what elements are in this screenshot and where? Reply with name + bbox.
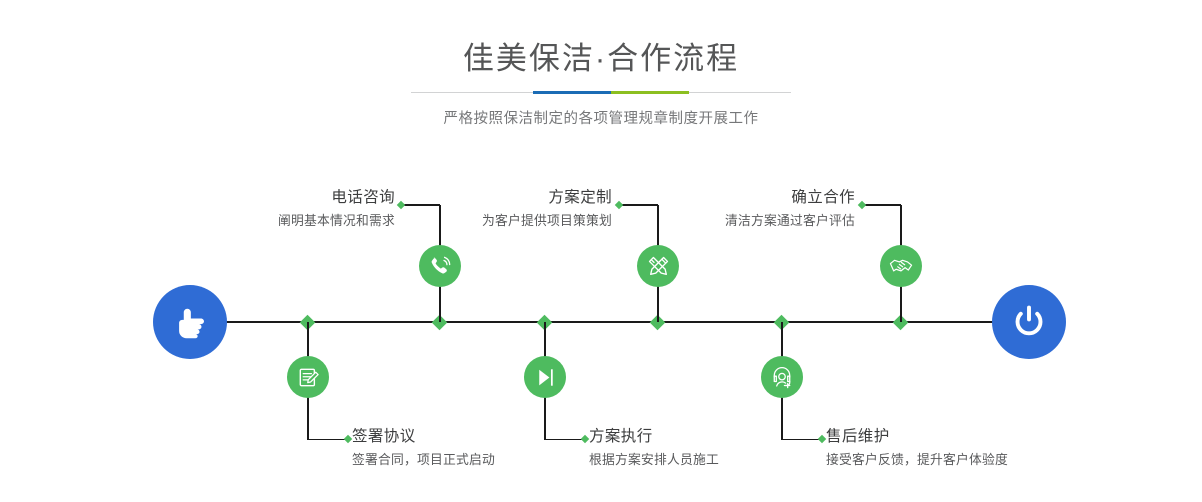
pointing-hand-icon (169, 301, 211, 343)
connector-leg-confirm (865, 204, 901, 206)
handshake-icon (888, 253, 914, 279)
timeline-start-node[interactable] (153, 285, 227, 359)
step-desc-aftersale: 接受客户反馈，提升客户体验度 (826, 450, 1126, 469)
headset-support-icon (769, 364, 795, 390)
step-icon-execute[interactable] (524, 356, 566, 398)
step-name-plan: 方案定制 (380, 188, 612, 208)
step-label-aftersale: 售后维护 接受客户反馈，提升客户体验度 (826, 427, 1126, 469)
header: 佳美保洁·合作流程 严格按照保洁制定的各项管理规章制度开展工作 (0, 0, 1202, 128)
step-desc-consult: 阐明基本情况和需求 (150, 211, 395, 230)
step-label-confirm: 确立合作 清洁方案通过客户评估 (630, 188, 855, 230)
connector-leg-sign (307, 439, 347, 441)
phone-call-icon (428, 254, 453, 279)
step-name-aftersale: 售后维护 (826, 427, 1126, 447)
step-icon-consult[interactable] (419, 245, 461, 287)
label-tip-sign (344, 435, 352, 443)
step-desc-confirm: 清洁方案通过客户评估 (630, 211, 855, 230)
play-forward-icon (533, 365, 558, 390)
step-label-consult: 电话咨询 阐明基本情况和需求 (150, 188, 395, 230)
step-name-confirm: 确立合作 (630, 188, 855, 208)
page-subtitle: 严格按照保洁制定的各项管理规章制度开展工作 (0, 107, 1202, 128)
step-label-plan: 方案定制 为客户提供项目策策划 (380, 188, 612, 230)
label-tip-confirm (858, 200, 866, 208)
process-flow-infographic: 佳美保洁·合作流程 严格按照保洁制定的各项管理规章制度开展工作 (0, 0, 1202, 502)
divider-green-segment (611, 91, 689, 94)
connector-leg-aftersale (781, 439, 821, 441)
step-name-consult: 电话咨询 (150, 188, 395, 208)
document-edit-icon (296, 365, 321, 390)
divider-blue-segment (533, 91, 611, 94)
pencil-ruler-icon (646, 254, 671, 279)
step-icon-plan[interactable] (637, 245, 679, 287)
timeline-end-node[interactable] (992, 285, 1066, 359)
step-icon-confirm[interactable] (880, 245, 922, 287)
title-divider (411, 91, 791, 95)
step-icon-aftersale[interactable] (761, 356, 803, 398)
step-desc-plan: 为客户提供项目策策划 (380, 211, 612, 230)
connector-leg-execute (544, 439, 584, 441)
step-icon-sign[interactable] (287, 356, 329, 398)
power-icon (1008, 301, 1050, 343)
label-tip-plan (615, 200, 623, 208)
page-title: 佳美保洁·合作流程 (0, 40, 1202, 77)
